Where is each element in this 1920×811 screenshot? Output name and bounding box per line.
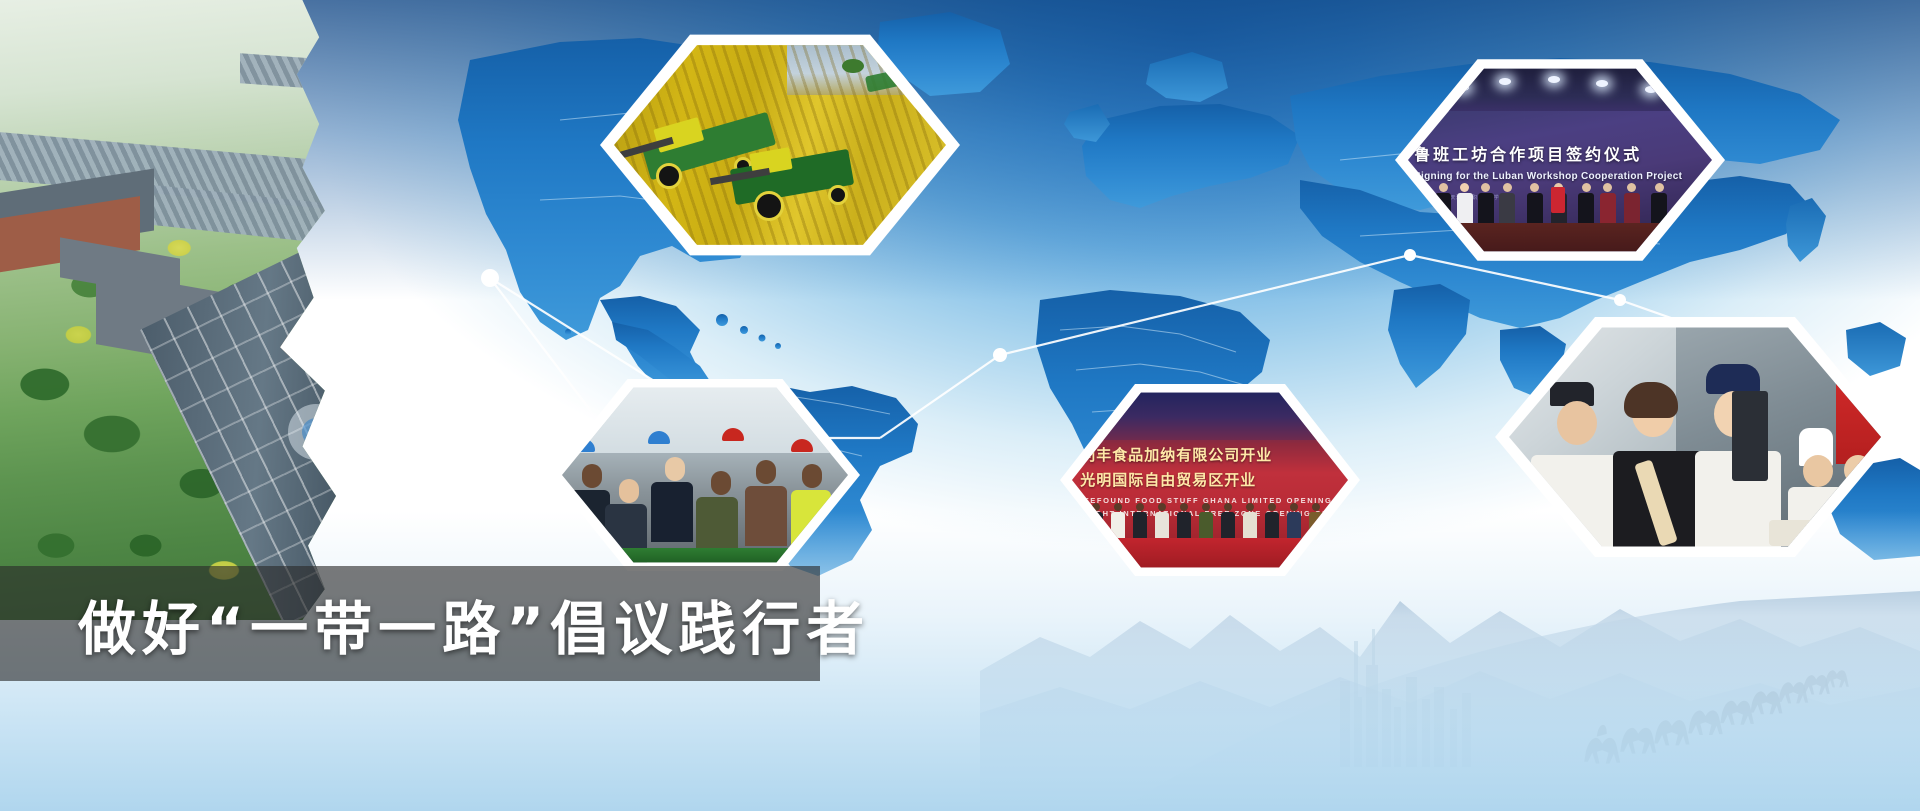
luban-banner-cn: 鲁班工坊合作项目签约仪式 [1414, 141, 1712, 165]
ghana-banner-cn-2: 光明国际自由贸易区开业 [1080, 469, 1339, 490]
page-title: 做好“一带一路”倡议践行者 [0, 566, 820, 681]
ghana-banner-cn-1: 利丰食品加纳有限公司开业 [1080, 444, 1339, 465]
luban-banner-en: Signing for the Luban Workshop Cooperati… [1414, 171, 1712, 182]
banner-root: 鲁班工坊合作项目签约仪式 Signing for the Luban Works… [0, 0, 1920, 811]
